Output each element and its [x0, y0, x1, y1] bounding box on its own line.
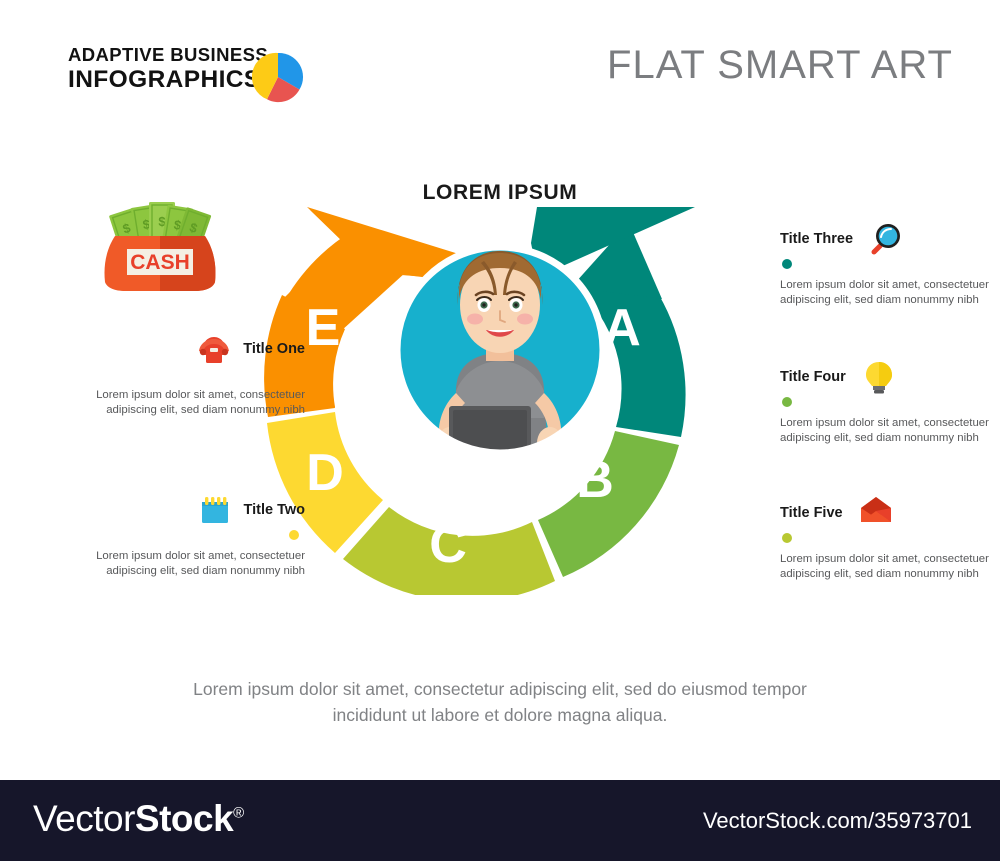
info-block-title-one[interactable]: Title One Lorem ipsum dolor sit amet, co… — [75, 330, 305, 417]
title-five-text: Title Five — [780, 504, 843, 522]
donut-segment-c[interactable]: C — [343, 507, 555, 595]
vectorstock-logo-light: Vector — [33, 798, 135, 839]
info-block-title-five[interactable]: Title Five Lorem ipsum dolor sit amet, c… — [780, 494, 1000, 581]
donut-segment-label-c: C — [429, 516, 467, 574]
footer-caption-line-two: incididunt ut labore et dolore magna ali… — [150, 702, 850, 728]
status-dot-title-two — [289, 530, 299, 540]
magnifier-icon — [867, 220, 905, 258]
telephone-icon — [195, 330, 233, 368]
status-dot-title-one — [289, 369, 299, 379]
open-envelope-icon — [857, 494, 895, 532]
title-four-text: Title Four — [780, 368, 846, 386]
tagline-flat-smart-art: FLAT SMART ART — [600, 43, 960, 88]
title-four-dot-row — [780, 397, 1000, 407]
status-dot-title-three — [782, 259, 792, 269]
money-bag-icon: $ $ $ $ — [99, 192, 221, 292]
title-two-body: Lorem ipsum dolor sit amet, consectetuer… — [75, 549, 305, 578]
footer-caption: Lorem ipsum dolor sit amet, consectetur … — [150, 676, 850, 728]
title-two-dot-row — [75, 530, 305, 540]
title-three-text: Title Three — [780, 230, 853, 248]
registered-trademark-icon: ® — [233, 805, 244, 822]
title-five-dot-row — [780, 533, 1000, 543]
footer-caption-line-one: Lorem ipsum dolor sit amet, consectetur … — [150, 676, 850, 702]
title-three-row: Title Three — [780, 220, 1000, 258]
title-four-row: Title Four — [780, 358, 1000, 396]
title-three-body: Lorem ipsum dolor sit amet, consectetuer… — [780, 278, 1000, 307]
title-one-dot-row — [75, 369, 305, 379]
info-block-title-four[interactable]: Title Four Lorem ipsum dolor sit amet, c… — [780, 358, 1000, 445]
vectorstock-url: VectorStock.com/35973701 — [703, 808, 972, 834]
pie-chart-icon — [252, 51, 304, 103]
title-five-body: Lorem ipsum dolor sit amet, consectetuer… — [780, 552, 1000, 581]
title-five-row: Title Five — [780, 494, 1000, 532]
lightbulb-icon — [860, 358, 898, 396]
vectorstock-logo: VectorStock® — [33, 798, 244, 840]
donut-segment-label-a: A — [603, 299, 641, 357]
title-two-text: Title Two — [244, 501, 306, 519]
donut-segment-label-e: E — [306, 299, 341, 357]
info-block-title-three[interactable]: Title Three Lorem ipsum dolor sit amet, … — [780, 220, 1000, 307]
status-dot-title-four — [782, 397, 792, 407]
vectorstock-logo-bold: Stock — [135, 798, 233, 839]
center-avatar — [393, 243, 607, 473]
donut-segment-label-d: D — [306, 444, 344, 502]
title-two-row: Title Two — [75, 491, 305, 529]
status-dot-title-five — [782, 533, 792, 543]
title-four-body: Lorem ipsum dolor sit amet, consectetuer… — [780, 416, 1000, 445]
title-three-dot-row — [780, 259, 1000, 269]
info-block-title-two[interactable]: Title Two Lorem ipsum dolor sit amet, co… — [75, 491, 305, 578]
title-one-row: Title One — [75, 330, 305, 368]
infographic-canvas: ADAPTIVE BUSINESS INFOGRAPHICS FLAT SMAR… — [0, 0, 1000, 861]
calendar-icon — [196, 491, 234, 529]
cash-label: CASH — [130, 251, 190, 274]
title-one-text: Title One — [243, 340, 305, 358]
title-one-body: Lorem ipsum dolor sit amet, consectetuer… — [75, 388, 305, 417]
